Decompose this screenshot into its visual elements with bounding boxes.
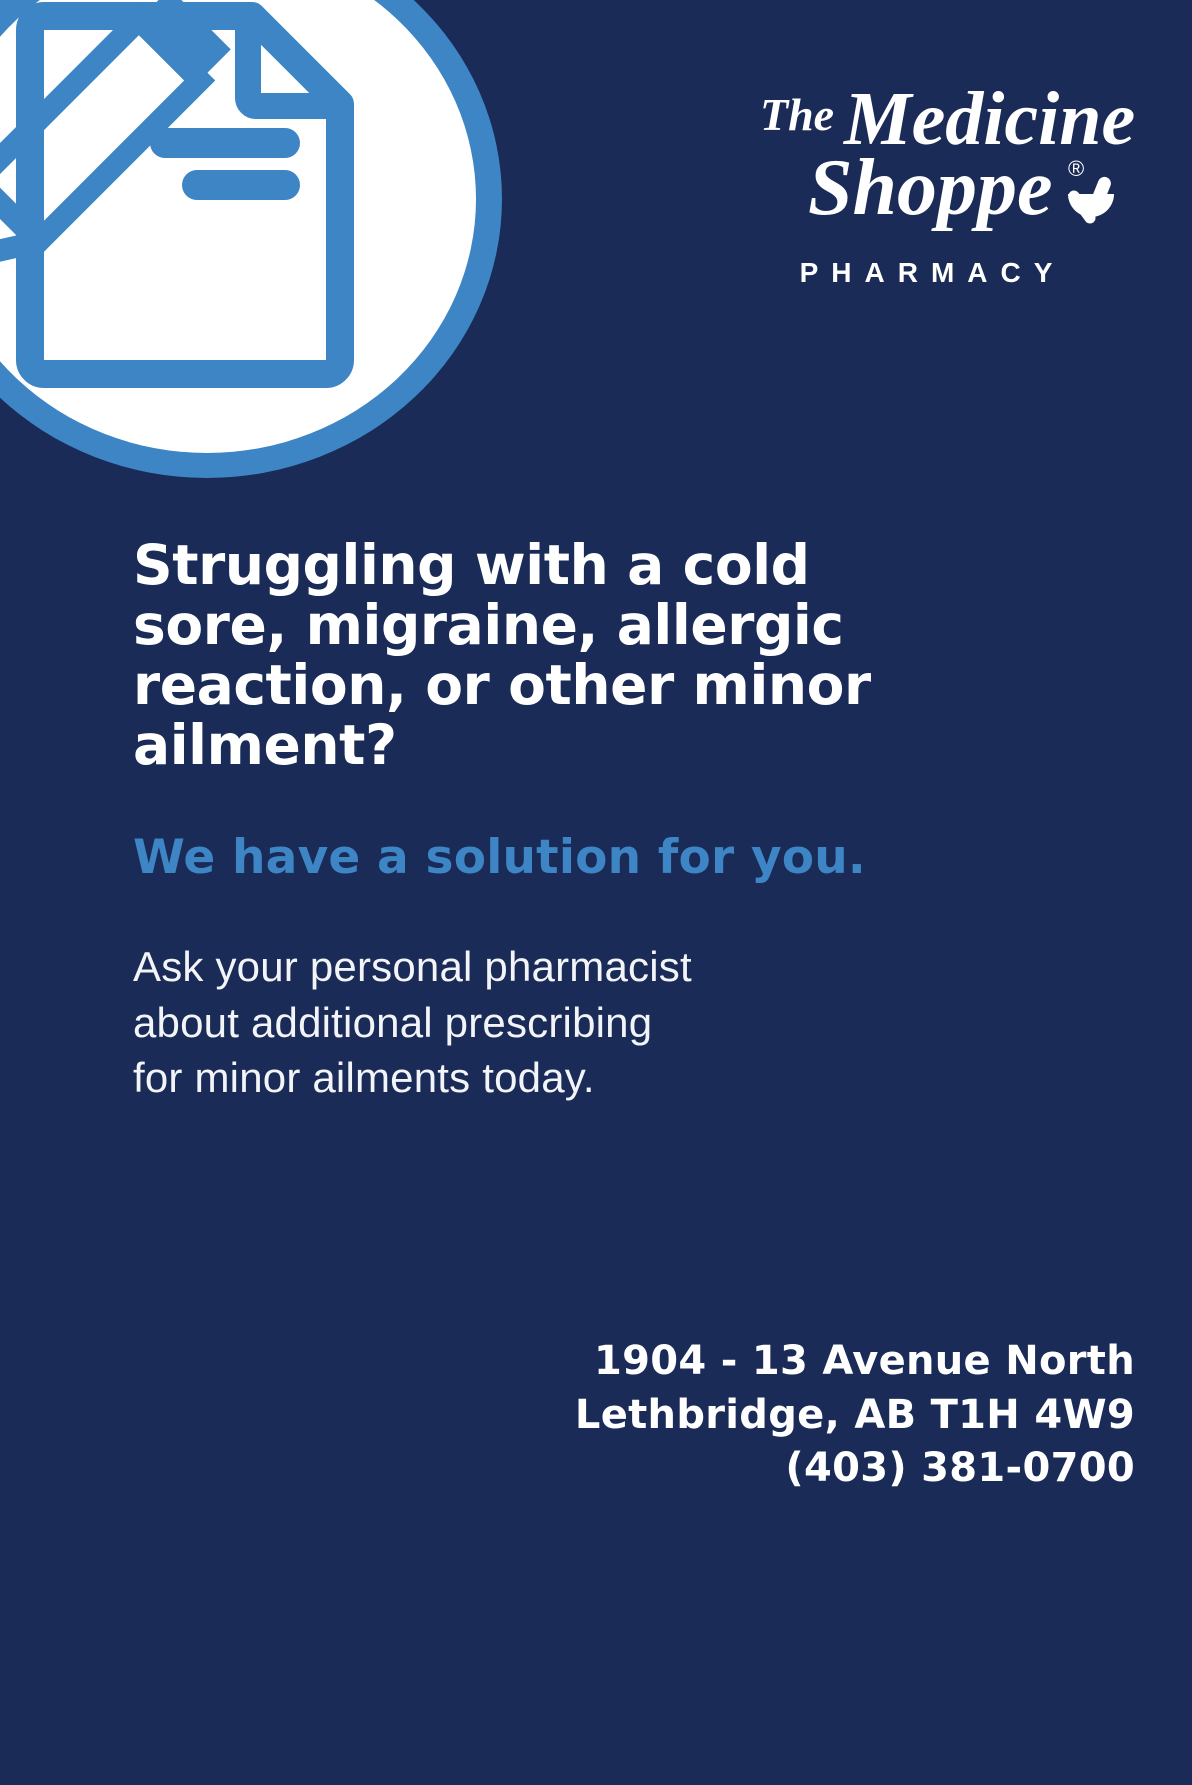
- registered-trademark-icon: ®: [1068, 156, 1084, 181]
- mortar-and-pestle-icon: [1068, 175, 1114, 218]
- body-copy: Ask your personal pharmacist about addit…: [133, 939, 963, 1105]
- brand-logo: The Medicine Shoppe ® PHARMACY: [716, 78, 1136, 287]
- address-city-region: Lethbridge, AB T1H 4W9: [575, 1389, 1135, 1442]
- message-block: Struggling with a cold sore, migraine, a…: [133, 536, 963, 1106]
- poster-canvas: The Medicine Shoppe ® PHARMACY Strugglin…: [0, 0, 1192, 1785]
- logo-pharmacy-text: PHARMACY: [716, 259, 1136, 287]
- address-phone[interactable]: (403) 381-0700: [575, 1442, 1135, 1495]
- badge-circle: [0, 0, 502, 478]
- store-address-block: 1904 - 13 Avenue North Lethbridge, AB T1…: [575, 1335, 1135, 1495]
- subheadline: We have a solution for you.: [133, 832, 963, 884]
- logo-shoppe-text: Shoppe: [808, 144, 1053, 232]
- headline: Struggling with a cold sore, migraine, a…: [133, 536, 963, 776]
- medicine-shoppe-wordmark: The Medicine Shoppe ®: [716, 78, 1136, 253]
- body-line-3: for minor ailments today.: [133, 1050, 963, 1105]
- document-pencil-icon: [0, 0, 402, 398]
- body-line-2: about additional prescribing: [133, 995, 963, 1050]
- body-line-1: Ask your personal pharmacist: [133, 939, 963, 994]
- address-street: 1904 - 13 Avenue North: [575, 1335, 1135, 1388]
- logo-the-text: The: [760, 89, 834, 140]
